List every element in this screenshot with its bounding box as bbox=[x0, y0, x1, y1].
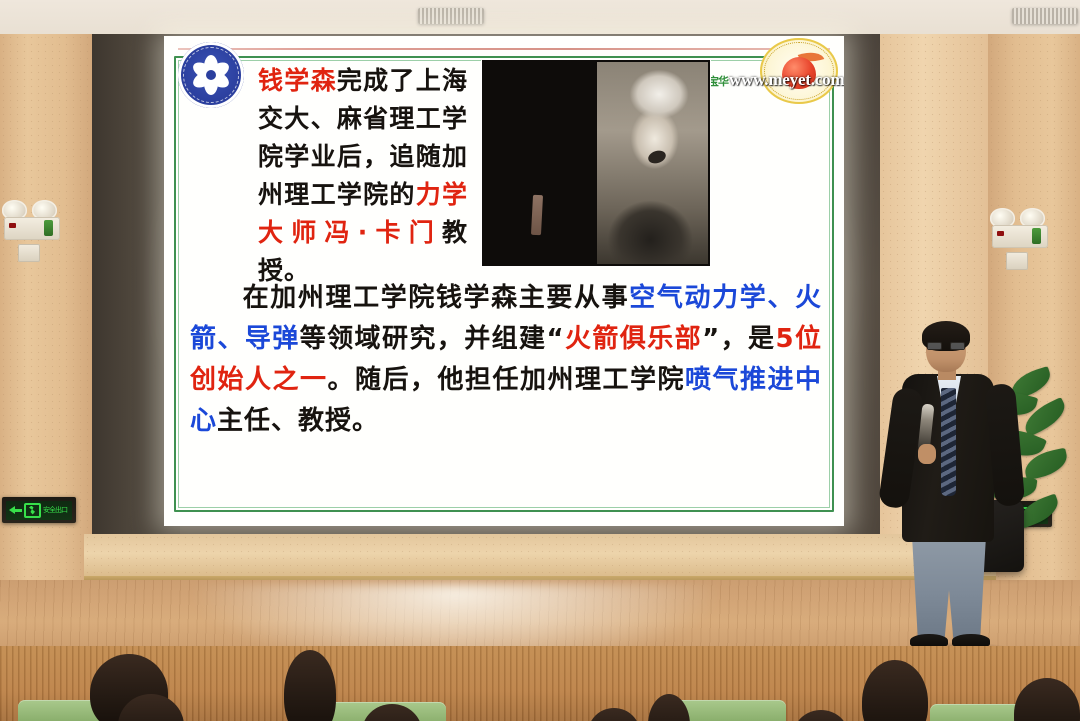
p2-seg-0: 在加州理工学院钱学森主要从事 bbox=[242, 283, 629, 313]
arrow-left-icon bbox=[9, 505, 22, 516]
exit-sign-left: 安全出口 bbox=[2, 497, 76, 523]
eyeglasses-icon bbox=[927, 342, 965, 350]
chinese-academy-of-sciences-logo-icon bbox=[178, 42, 244, 108]
ceiling-vent bbox=[418, 8, 484, 24]
presenter bbox=[896, 326, 1016, 660]
qian-xuesen-portrait bbox=[484, 62, 595, 264]
wood-wall-left bbox=[0, 34, 92, 654]
p2-seg-6: 。随后，他担任加州理工学院 bbox=[328, 365, 685, 395]
watermark-url-text: www.meyet.com bbox=[729, 70, 844, 89]
lecture-hall-scene: 安全出口 安全出口 bbox=[0, 0, 1080, 721]
emergency-light-right bbox=[990, 208, 1050, 248]
p1-seg-0: 钱学森 bbox=[258, 66, 337, 95]
portrait-pair bbox=[482, 60, 710, 266]
p2-seg-8: 主任、教授。 bbox=[217, 406, 379, 436]
slide-paragraph-1: 钱学森完成了上海交大、麻省理工学院学业后，追随加州理工学院的力学大师冯·卡门教授… bbox=[258, 62, 468, 290]
p2-seg-4: ”，是 bbox=[702, 324, 775, 354]
presentation-slide: 美亚宝华www.meyet.com 钱学森完成了上海交大、麻省理工学院学业后，追… bbox=[164, 36, 844, 526]
projection-screen: 美亚宝华www.meyet.com 钱学森完成了上海交大、麻省理工学院学业后，追… bbox=[164, 36, 844, 526]
ceiling-vent bbox=[1012, 8, 1078, 24]
striped-tie bbox=[941, 388, 956, 496]
watermark-url: 美亚宝华www.meyet.com bbox=[688, 70, 844, 90]
von-karman-portrait bbox=[597, 62, 708, 264]
slide-border-red bbox=[178, 48, 830, 50]
exit-label: 安全出口 bbox=[43, 505, 67, 515]
p2-seg-3: 火箭俱乐部 bbox=[565, 324, 703, 354]
emergency-light-left bbox=[2, 200, 62, 240]
running-person-icon bbox=[24, 503, 41, 518]
stage-front-panel bbox=[84, 534, 996, 580]
p2-seg-2: 等领域研究，并组建“ bbox=[300, 324, 565, 354]
slide-paragraph-2: 在加州理工学院钱学森主要从事空气动力学、火箭、导弹等领域研究，并组建“火箭俱乐部… bbox=[190, 278, 822, 442]
